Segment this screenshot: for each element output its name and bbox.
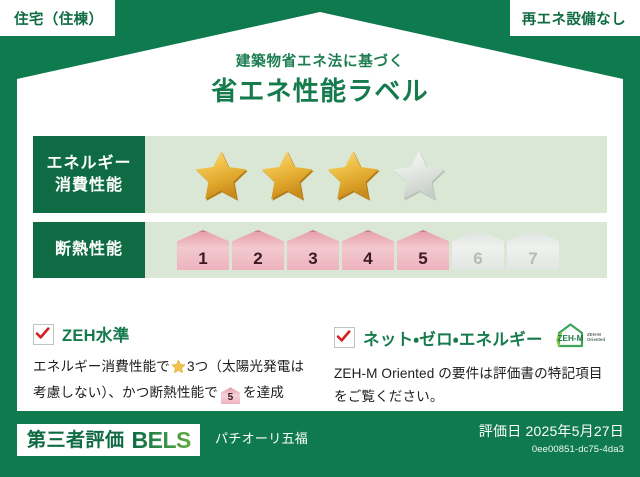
label-footer: 第三者評価 BELS パチオーリ五福 評価日 2025年5月27日 0ee008… (0, 415, 640, 477)
insulation-grade-number: 1 (198, 250, 207, 267)
evaluation-date: 評価日 2025年5月27日 (479, 423, 624, 440)
row-energy-label-line2: 消費性能 (46, 175, 131, 197)
evaluation-id: 0ee00851-dc75-4da3 (479, 444, 624, 455)
footer-evaluation-info: 評価日 2025年5月27日 0ee00851-dc75-4da3 (479, 423, 624, 455)
note-zeh-standard-header: ZEH水準 (33, 322, 310, 346)
insulation-grade-number: 5 (418, 250, 427, 267)
note-zeh-text-part3: を達成 (243, 385, 284, 400)
checkmark-icon[interactable] (334, 327, 355, 348)
rating-rows: エネルギー 消費性能 断熱性能 1234567 (33, 136, 607, 278)
star-icon-filled (325, 148, 381, 202)
inline-grade-chip: 5 (221, 387, 240, 404)
energy-performance-label: 住宅（住棟） 再エネ設備なし 建築物省エネ法に基づく 省エネ性能ラベル エネルギ… (0, 0, 640, 477)
row-insulation: 断熱性能 1234567 (33, 222, 607, 278)
insulation-grade-number: 3 (308, 250, 317, 267)
bels-badge: 第三者評価 BELS (17, 424, 200, 456)
badge-renewable-energy: 再エネ設備なし (510, 0, 640, 36)
star-icon-filled (193, 148, 249, 202)
insulation-grade-number: 6 (473, 250, 482, 267)
note-net-zero-energy: ネット・ゼロ・エネルギー ZEH-M ZEH-M Oriented ZEH-M … (334, 322, 611, 409)
note-net-zero-energy-header: ネット・ゼロ・エネルギー ZEH-M ZEH-M Oriented (334, 322, 611, 353)
row-energy-label-line1: エネルギー (46, 153, 131, 175)
svg-text:Oriented: Oriented (587, 337, 605, 342)
badge-building-type-label: 住宅（住棟） (14, 8, 103, 29)
row-insulation-label: 断熱性能 (33, 222, 145, 278)
note-net-zero-energy-title: ネット・ゼロ・エネルギー (363, 326, 543, 350)
row-insulation-grades: 1234567 (145, 222, 607, 278)
row-insulation-label-text: 断熱性能 (55, 239, 123, 261)
star-icon (171, 362, 186, 377)
note-zeh-standard-text: エネルギー消費性能で3つ（太陽光発電は考慮しない）、かつ断熱性能で5を達成 (33, 355, 310, 405)
badge-renewable-energy-label: 再エネ設備なし (522, 8, 626, 29)
insulation-grade-chip-5: 5 (397, 230, 449, 270)
insulation-grade-number: 4 (363, 250, 372, 267)
zeh-m-logo: ZEH-M ZEH-M Oriented (555, 322, 607, 353)
insulation-grade-chip-1: 1 (177, 230, 229, 270)
bels-logo-text: BELS (132, 429, 191, 452)
building-name: パチオーリ五福 (215, 432, 308, 445)
insulation-grade-chip-4: 4 (342, 230, 394, 270)
note-net-zero-energy-text: ZEH-M Oriented の要件は評価書の特記項目をご覧ください。 (334, 362, 611, 409)
row-energy-consumption-stars (145, 136, 607, 213)
insulation-grade-number: 7 (528, 250, 537, 267)
bels-japanese-label: 第三者評価 (27, 431, 125, 450)
note-zeh-text-part1: エネルギー消費性能で (33, 359, 170, 374)
star-icon-filled (259, 148, 315, 202)
star-icon-empty (391, 148, 447, 202)
note-zeh-standard: ZEH水準 エネルギー消費性能で3つ（太陽光発電は考慮しない）、かつ断熱性能で5… (33, 322, 310, 409)
badge-building-type: 住宅（住棟） (0, 0, 115, 36)
svg-text:ZEH-M: ZEH-M (557, 334, 583, 343)
row-energy-consumption: エネルギー 消費性能 (33, 136, 607, 213)
title-subtitle: 建築物省エネ法に基づく (0, 55, 640, 70)
insulation-grade-chip-7: 7 (507, 230, 559, 270)
insulation-grade-chip-3: 3 (287, 230, 339, 270)
insulation-grade-number: 2 (253, 250, 262, 267)
notes-section: ZEH水準 エネルギー消費性能で3つ（太陽光発電は考慮しない）、かつ断熱性能で5… (33, 322, 611, 409)
checkmark-icon[interactable] (33, 324, 54, 345)
insulation-grade-chip-6: 6 (452, 230, 504, 270)
insulation-grade-chip-2: 2 (232, 230, 284, 270)
label-title-block: 建築物省エネ法に基づく 省エネ性能ラベル (0, 55, 640, 104)
row-energy-consumption-label: エネルギー 消費性能 (33, 136, 145, 213)
title-main: 省エネ性能ラベル (0, 78, 640, 104)
note-zeh-standard-title: ZEH水準 (62, 322, 130, 346)
